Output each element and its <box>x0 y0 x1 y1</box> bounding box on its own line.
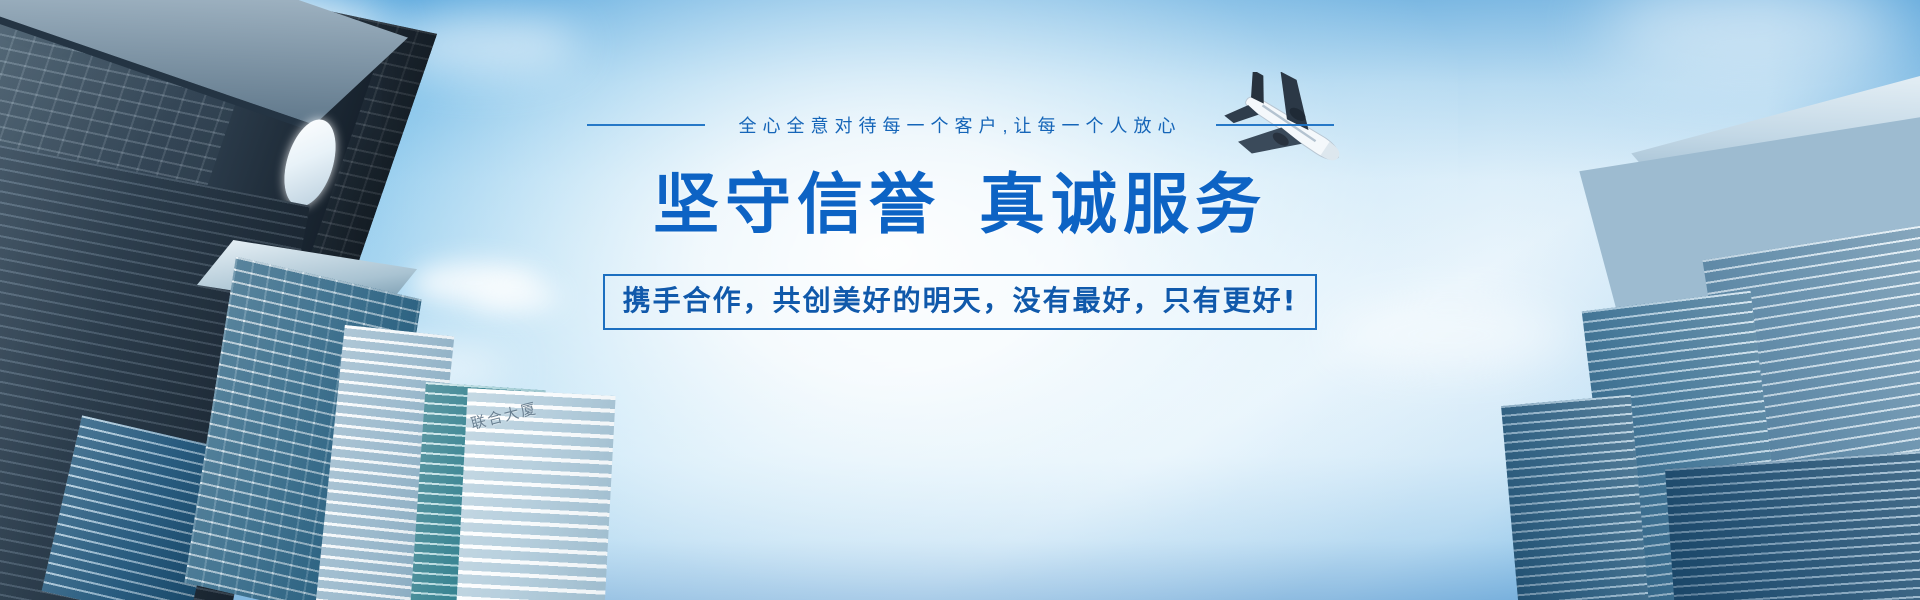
headline-part-left: 坚守信誉 <box>653 166 941 243</box>
hero-banner: 联合大厦 <box>0 0 1920 600</box>
subtitle-text: 携手合作，共创美好的明天，没有最好，只有更好! <box>623 287 1298 315</box>
banner-content: 全心全意对待每一个客户,让每一个人放心 坚守信誉真诚服务 携手合作，共创美好的明… <box>0 0 1920 600</box>
subtitle-box: 携手合作，共创美好的明天，没有最好，只有更好! <box>603 274 1318 330</box>
eyebrow-text: 全心全意对待每一个客户,让每一个人放心 <box>739 112 1182 138</box>
headline-part-right: 真诚服务 <box>979 166 1267 243</box>
left-rule-icon <box>587 124 705 126</box>
page-title: 坚守信誉真诚服务 <box>653 172 1267 238</box>
eyebrow-row: 全心全意对待每一个客户,让每一个人放心 <box>587 112 1334 138</box>
right-rule-icon <box>1216 124 1334 126</box>
